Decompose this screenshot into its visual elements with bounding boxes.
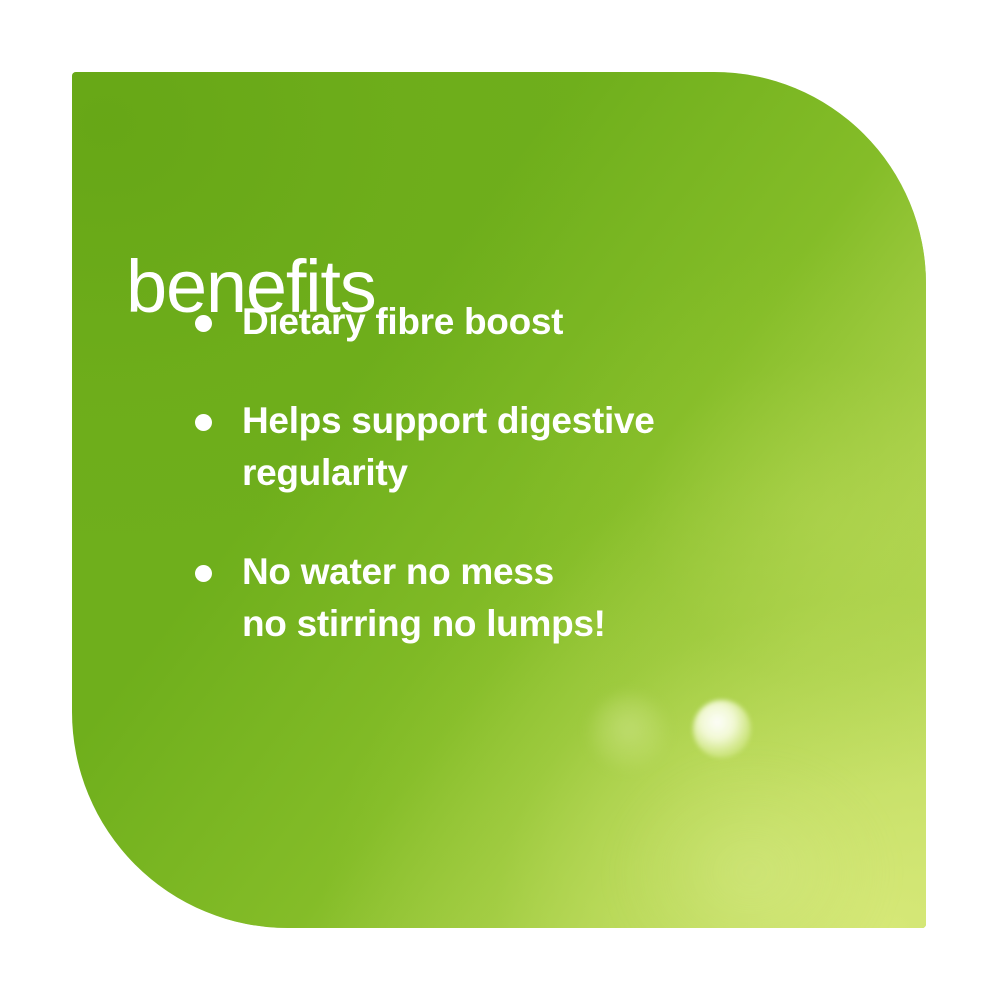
list-item: Dietary fibre boost xyxy=(126,296,826,349)
benefits-list: Dietary fibre boost Helps support digest… xyxy=(126,296,826,651)
page-canvas: benefits Dietary fibre boost Helps suppo… xyxy=(0,0,1000,1000)
bullet-dot-icon xyxy=(195,565,212,582)
bullet-dot-icon xyxy=(195,315,212,332)
benefit-text-line: no stirring no lumps! xyxy=(242,598,826,651)
benefit-text-line: regularity xyxy=(242,447,826,500)
list-item: Helps support digestive regularity xyxy=(126,395,826,500)
card-content: benefits Dietary fibre boost Helps suppo… xyxy=(72,72,926,928)
list-item: No water no mess no stirring no lumps! xyxy=(126,546,826,651)
benefits-card: benefits Dietary fibre boost Helps suppo… xyxy=(72,72,926,928)
benefit-text-line: No water no mess xyxy=(242,546,826,599)
benefit-text-line: Helps support digestive xyxy=(242,395,826,448)
benefit-text-line: Dietary fibre boost xyxy=(242,296,826,349)
bullet-dot-icon xyxy=(195,414,212,431)
